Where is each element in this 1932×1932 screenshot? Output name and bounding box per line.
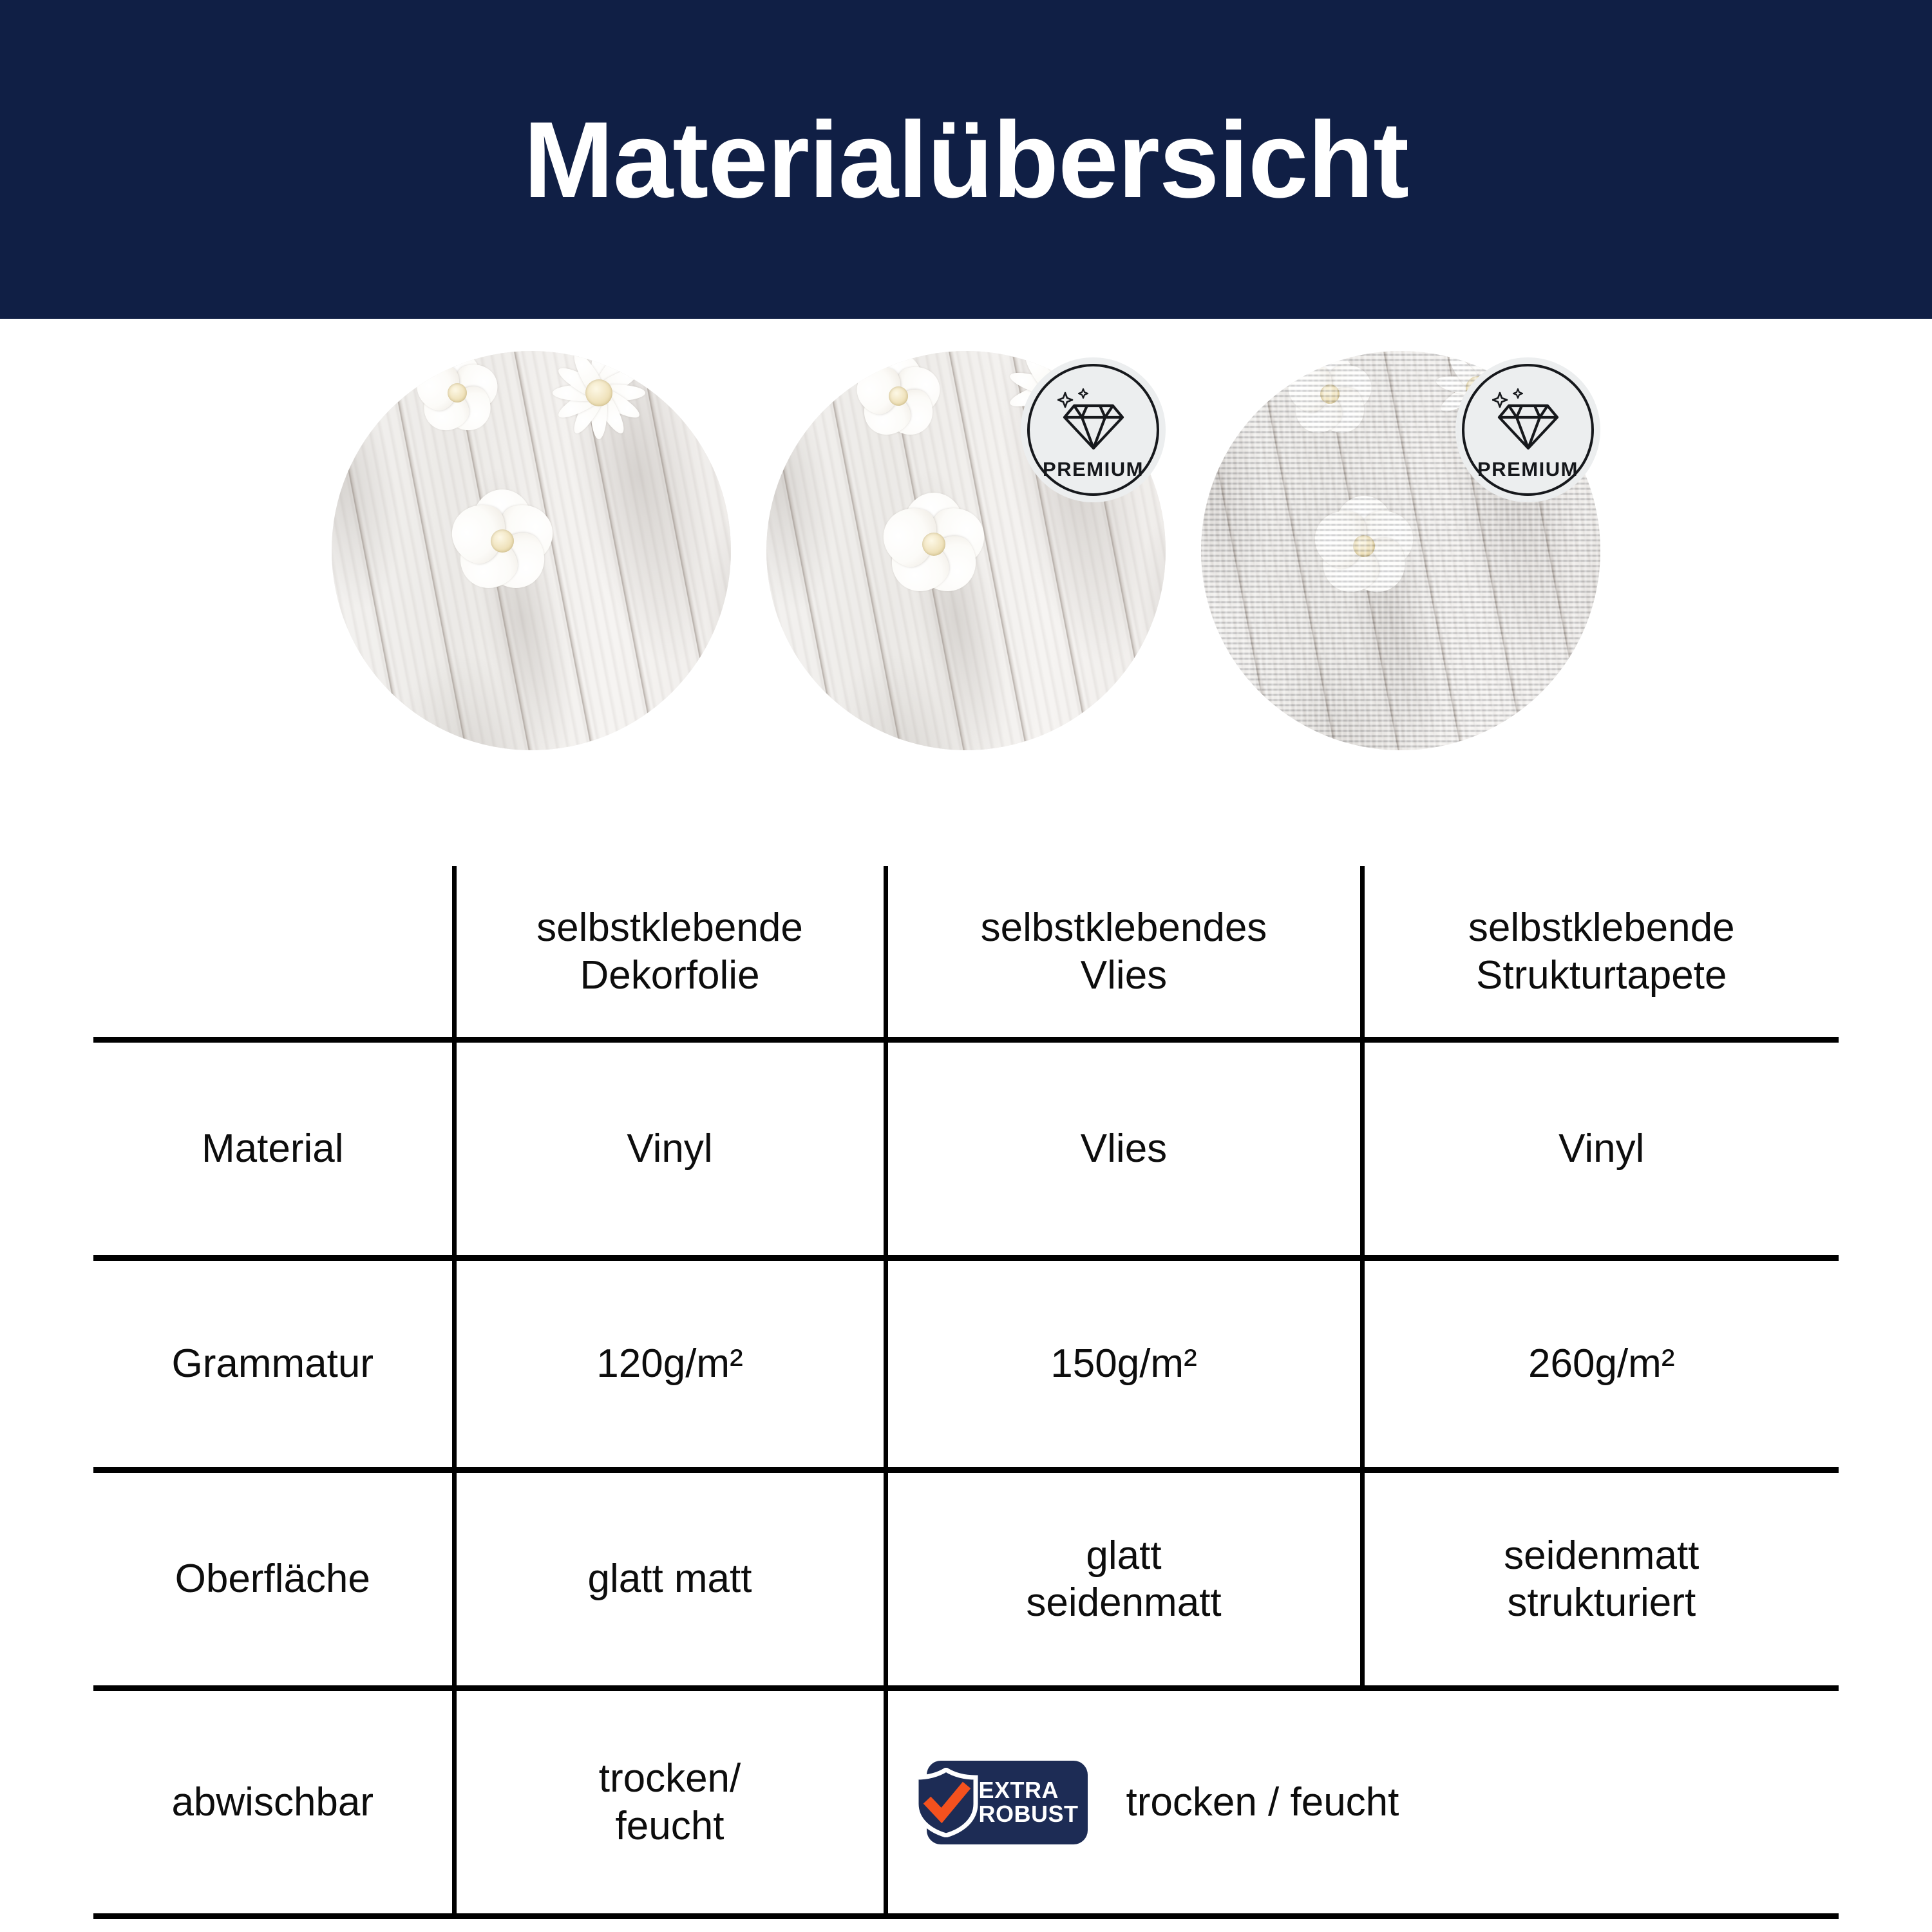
row-label-material: Material bbox=[93, 1040, 454, 1258]
cell-line1: glatt matt bbox=[463, 1555, 877, 1602]
column-header-strukturtapete: selbstklebende Strukturtapete bbox=[1362, 866, 1839, 1040]
table-corner-cell bbox=[93, 866, 454, 1040]
table-header-row: selbstklebende Dekorfolie selbstklebende… bbox=[93, 866, 1839, 1040]
cell-grammatur-strukturtapete: 260g/m² bbox=[1362, 1258, 1839, 1470]
table-row: Material Vinyl Vlies Vinyl bbox=[93, 1040, 1839, 1258]
extra-robust-badge: EXTRA ROBUST bbox=[927, 1761, 1088, 1844]
row-label-grammatur: Grammatur bbox=[93, 1258, 454, 1470]
diamond-icon bbox=[1492, 388, 1564, 455]
cell-oberflaeche-strukturtapete: seidenmatt strukturiert bbox=[1362, 1470, 1839, 1689]
extra-robust-line2: ROBUST bbox=[979, 1803, 1079, 1826]
cell-line1: trocken/ bbox=[463, 1755, 877, 1802]
cell-abwischbar-vlies-strukturtapete: EXTRA ROBUST trocken / feucht bbox=[885, 1689, 1839, 1917]
column-header-line2: Dekorfolie bbox=[463, 952, 877, 999]
table-row: Grammatur 120g/m² 150g/m² 260g/m² bbox=[93, 1258, 1839, 1470]
cell-grammatur-vlies: 150g/m² bbox=[885, 1258, 1362, 1470]
cell-abwischbar-value: trocken / feucht bbox=[1126, 1779, 1399, 1826]
flower-icon bbox=[873, 483, 995, 605]
swatch-dekorfolie[interactable] bbox=[332, 351, 731, 750]
cell-material-strukturtapete: Vinyl bbox=[1362, 1040, 1839, 1258]
material-swatch-row: PREMIUM bbox=[0, 351, 1932, 770]
column-header-line1: selbstklebende bbox=[1371, 904, 1833, 951]
cell-line2: strukturiert bbox=[1371, 1579, 1833, 1626]
flower-icon bbox=[441, 480, 563, 602]
cell-oberflaeche-vlies: glatt seidenmatt bbox=[885, 1470, 1362, 1689]
column-header-line1: selbstklebende bbox=[463, 904, 877, 951]
column-header-line1: selbstklebendes bbox=[895, 904, 1354, 951]
cell-line1: glatt bbox=[895, 1532, 1354, 1579]
flower-icon bbox=[409, 351, 506, 441]
row-label-oberflaeche: Oberfläche bbox=[93, 1470, 454, 1689]
column-header-line2: Strukturtapete bbox=[1371, 952, 1833, 999]
cell-material-vlies: Vlies bbox=[885, 1040, 1362, 1258]
premium-label: PREMIUM bbox=[1477, 458, 1578, 481]
cell-line2: feucht bbox=[463, 1803, 877, 1850]
column-header-dekorfolie: selbstklebende Dekorfolie bbox=[454, 866, 885, 1040]
cell-grammatur-dekorfolie: 120g/m² bbox=[454, 1258, 885, 1470]
shield-check-icon bbox=[913, 1768, 980, 1837]
cell-line2: seidenmatt bbox=[895, 1579, 1354, 1626]
premium-label: PREMIUM bbox=[1043, 458, 1144, 481]
swatch-strukturtapete[interactable]: PREMIUM bbox=[1201, 351, 1600, 750]
column-header-vlies: selbstklebendes Vlies bbox=[885, 866, 1362, 1040]
flower-icon bbox=[544, 351, 654, 448]
flower-icon bbox=[850, 351, 947, 444]
material-comparison-table: selbstklebende Dekorfolie selbstklebende… bbox=[93, 866, 1839, 1919]
column-header-line2: Vlies bbox=[895, 952, 1354, 999]
premium-badge: PREMIUM bbox=[1021, 357, 1166, 502]
table-row: abwischbar trocken/ feucht bbox=[93, 1689, 1839, 1917]
swatch-image-dekorfolie bbox=[332, 351, 731, 750]
diamond-icon bbox=[1057, 388, 1130, 455]
cell-material-dekorfolie: Vinyl bbox=[454, 1040, 885, 1258]
page-title: Materialübersicht bbox=[524, 106, 1408, 214]
page-header: Materialübersicht bbox=[0, 0, 1932, 319]
row-label-abwischbar: abwischbar bbox=[93, 1689, 454, 1917]
table-row: Oberfläche glatt matt glatt seidenmatt s… bbox=[93, 1470, 1839, 1689]
premium-badge: PREMIUM bbox=[1455, 357, 1600, 502]
cell-oberflaeche-dekorfolie: glatt matt bbox=[454, 1470, 885, 1689]
swatch-vlies[interactable]: PREMIUM bbox=[766, 351, 1166, 750]
cell-line1: seidenmatt bbox=[1371, 1532, 1833, 1579]
cell-abwischbar-dekorfolie: trocken/ feucht bbox=[454, 1689, 885, 1917]
extra-robust-line1: EXTRA bbox=[979, 1779, 1059, 1803]
